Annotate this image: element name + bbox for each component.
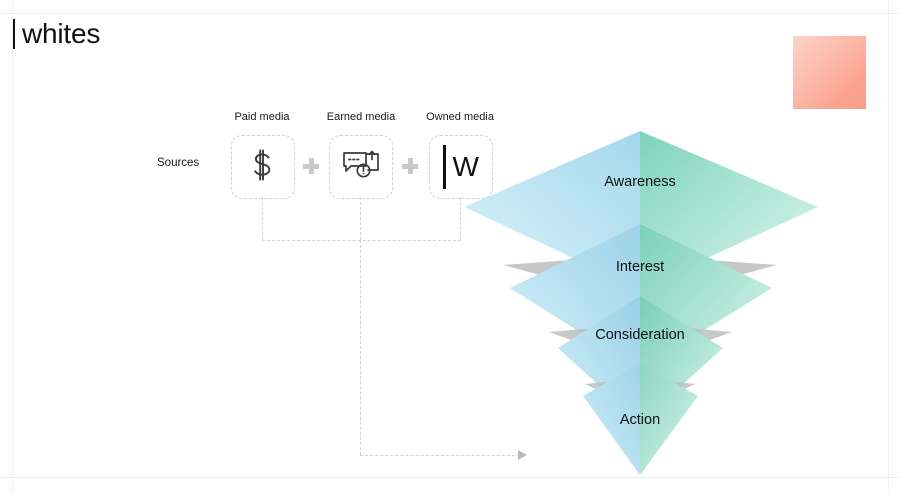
dollar-sign-icon (243, 145, 283, 190)
sources-row-label: Sources (157, 157, 199, 169)
speech-bubble-share-icon (340, 146, 382, 189)
funnel-stage-label-awareness: Awareness (604, 174, 675, 190)
plus-separator-1 (303, 158, 319, 174)
plus-separator-2 (402, 158, 418, 174)
marketing-funnel-diagram: Awareness Interest Consideration Action (455, 125, 835, 485)
source-caption-paid: Paid media (231, 111, 293, 123)
connector-earned-down (360, 197, 361, 240)
w-wordmark-bar (443, 145, 446, 189)
accent-square (793, 36, 866, 109)
slide-right-border (888, 0, 889, 494)
page-title-text: whites (22, 19, 100, 49)
slide-top-border (0, 13, 900, 14)
source-caption-owned: Owned media (424, 111, 496, 123)
connector-trunk-vertical (360, 240, 361, 455)
source-box-paid-media[interactable] (231, 135, 295, 199)
page-title: whites (13, 15, 100, 53)
funnel-stage-label-consideration: Consideration (595, 327, 684, 343)
connector-bus-horizontal (262, 240, 461, 241)
source-box-earned-media[interactable] (329, 135, 393, 199)
funnel-stage-label-action: Action (620, 412, 660, 428)
source-caption-earned: Earned media (325, 111, 397, 123)
slide-canvas: whites Sources Paid media Earned media O… (0, 0, 900, 494)
slide-left-border (12, 0, 13, 494)
text-cursor-icon (13, 19, 15, 49)
connector-paid-down (262, 197, 263, 240)
funnel-stage-label-interest: Interest (616, 259, 664, 275)
